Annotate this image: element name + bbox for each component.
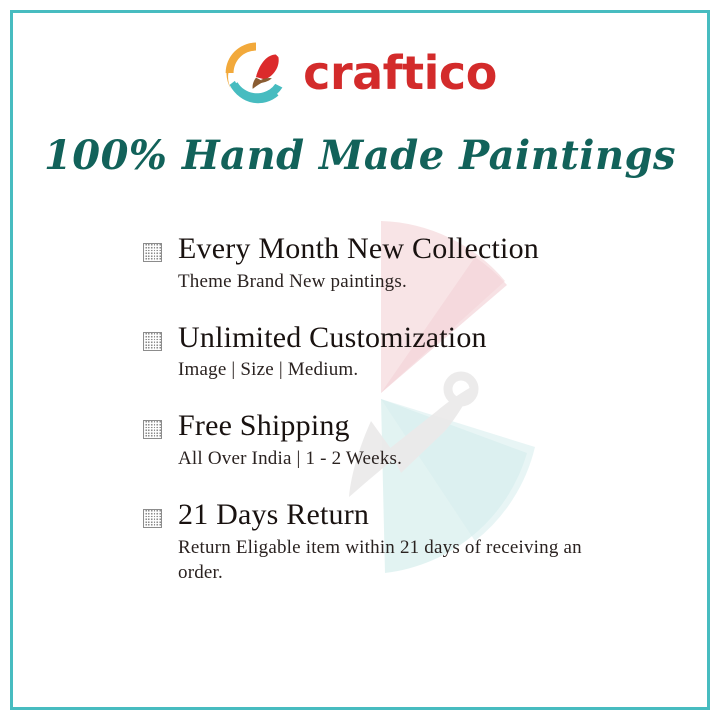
feature-subtitle: All Over India | 1 - 2 Weeks. — [178, 446, 613, 471]
feature-text-group: 21 Days Return Return Eligable item with… — [178, 498, 613, 585]
feature-list: Every Month New Collection Theme Brand N… — [143, 232, 613, 585]
brand-logo-lockup: craftico — [0, 34, 720, 112]
feature-title: Every Month New Collection — [178, 232, 613, 266]
mesh-square-bullet-icon — [143, 332, 162, 351]
list-item: Every Month New Collection Theme Brand N… — [143, 232, 613, 294]
craftico-c-paintbrush-logo-icon — [223, 40, 289, 106]
brand-wordmark: craftico — [303, 50, 497, 96]
feature-text-group: Free Shipping All Over India | 1 - 2 Wee… — [178, 409, 613, 471]
feature-text-group: Unlimited Customization Image | Size | M… — [178, 321, 613, 383]
feature-subtitle: Return Eligable item within 21 days of r… — [178, 535, 613, 585]
feature-subtitle: Theme Brand New paintings. — [178, 269, 613, 294]
feature-title: 21 Days Return — [178, 498, 613, 532]
list-item: Unlimited Customization Image | Size | M… — [143, 321, 613, 383]
feature-title: Unlimited Customization — [178, 321, 613, 355]
mesh-square-bullet-icon — [143, 243, 162, 262]
list-item: Free Shipping All Over India | 1 - 2 Wee… — [143, 409, 613, 471]
list-item: 21 Days Return Return Eligable item with… — [143, 498, 613, 585]
feature-text-group: Every Month New Collection Theme Brand N… — [178, 232, 613, 294]
feature-title: Free Shipping — [178, 409, 613, 443]
page-title: 100% Hand Made Paintings — [0, 133, 720, 179]
mesh-square-bullet-icon — [143, 420, 162, 439]
mesh-square-bullet-icon — [143, 509, 162, 528]
banner-canvas: craftico 100% Hand Made Paintings Every … — [0, 0, 720, 720]
feature-subtitle: Image | Size | Medium. — [178, 357, 613, 382]
